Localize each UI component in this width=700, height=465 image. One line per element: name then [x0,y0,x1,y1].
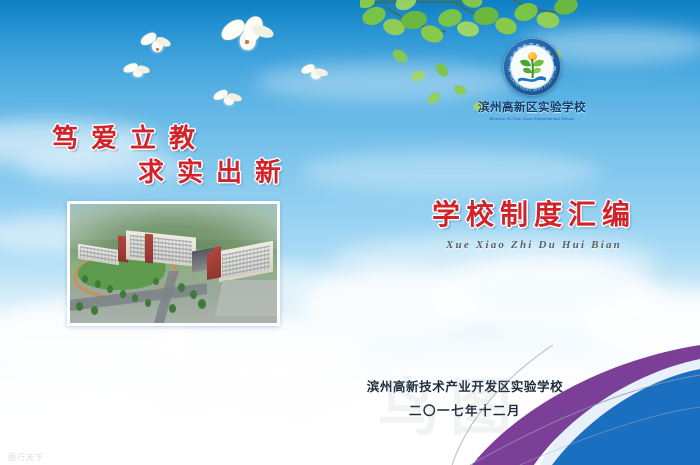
dove-icon [139,30,173,55]
page-title-block: 学校制度汇编 Xue Xiao Zhi Du Hui Bian [432,193,636,251]
page-title: 学校制度汇编 [432,193,636,233]
watermark-corner: 图行天下 [8,452,44,463]
logo-school-name: 滨州高新区实验学校 [468,99,596,115]
campus-photo [70,204,277,323]
cloud-icon [150,318,370,384]
dove-icon [301,62,329,82]
footer-block: 滨州高新技术产业开发区实验学校 二〇一七年十二月 [0,376,700,419]
watermark-text: 鸟图 [378,357,522,447]
cover-page: 笃爱立教 求实出新 [0,0,700,465]
school-emblem-icon: 滨州高新区实验学校 BINZHOU HI-TECH ZONE EXPERIMEN… [503,38,561,96]
campus-photo-frame [67,201,280,326]
page-title-pinyin: Xue Xiao Zhi Du Hui Bian [432,239,636,251]
cloud-icon [300,150,600,194]
slogan-line-1: 笃爱立教 [52,118,208,155]
school-logo: 滨州高新区实验学校 BINZHOU HI-TECH ZONE EXPERIMEN… [468,38,596,130]
dove-icon [213,88,243,108]
slogan-line-2: 求实出新 [138,152,294,189]
dove-icon [123,60,151,80]
emblem-inner [510,45,554,89]
logo-school-name-en: Binzhou Hi-Tech Zone Experimental School [471,116,594,121]
dove-icon [218,14,276,56]
